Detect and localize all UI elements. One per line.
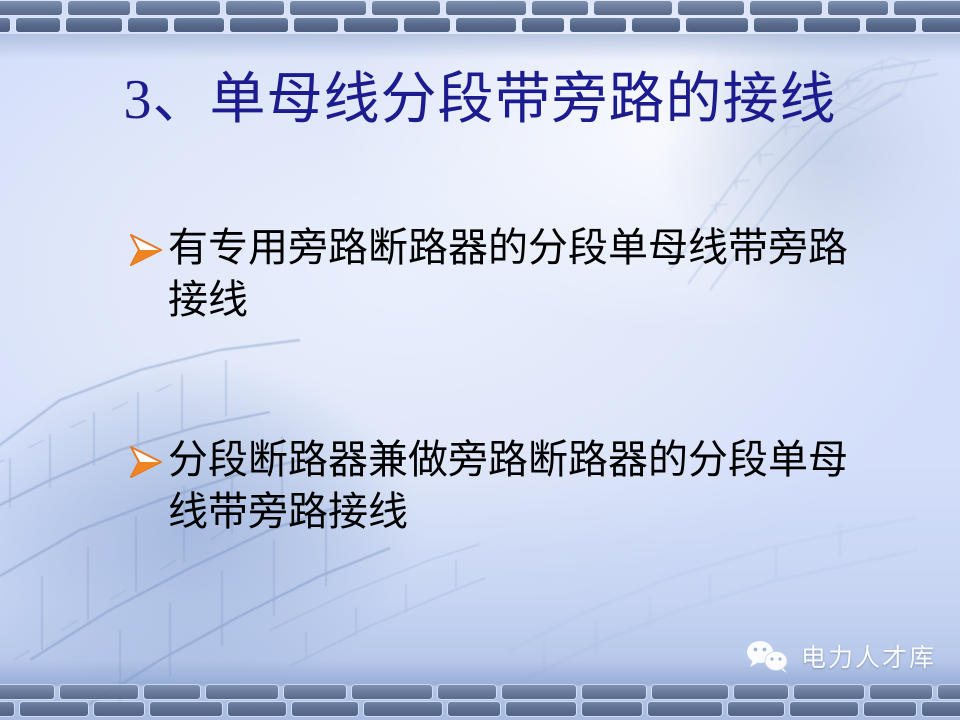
brick-row (0, 701, 960, 718)
arrow-bullet-icon (126, 442, 164, 482)
bottom-brick-border (0, 684, 960, 720)
brick-row (0, 684, 960, 701)
arrow-bullet-icon (126, 230, 164, 270)
brick-row (0, 17, 960, 34)
slide-title: 3、单母线分段带旁路的接线 (0, 68, 960, 132)
top-border-fade (0, 34, 960, 60)
list-item: 分段断路器兼做旁路断路器的分段单母线带旁路接线 (126, 434, 886, 538)
bullet-list: 有专用旁路断路器的分段单母线带旁路接线 分段断路器兼做旁路断路器的分段单母线带旁… (126, 222, 886, 538)
presentation-slide: 3、单母线分段带旁路的接线 有专用旁路断路器的分段单母线带旁路接线 分段断路器兼… (0, 0, 960, 720)
list-item-label: 有专用旁路断路器的分段单母线带旁路接线 (168, 222, 868, 326)
wechat-icon (745, 639, 791, 673)
watermark-logo: 电力人才库 (745, 638, 936, 674)
brick-row (0, 0, 960, 17)
watermark-label: 电力人才库 (801, 638, 936, 674)
list-item: 有专用旁路断路器的分段单母线带旁路接线 (126, 222, 886, 326)
list-item-label: 分段断路器兼做旁路断路器的分段单母线带旁路接线 (168, 434, 868, 538)
